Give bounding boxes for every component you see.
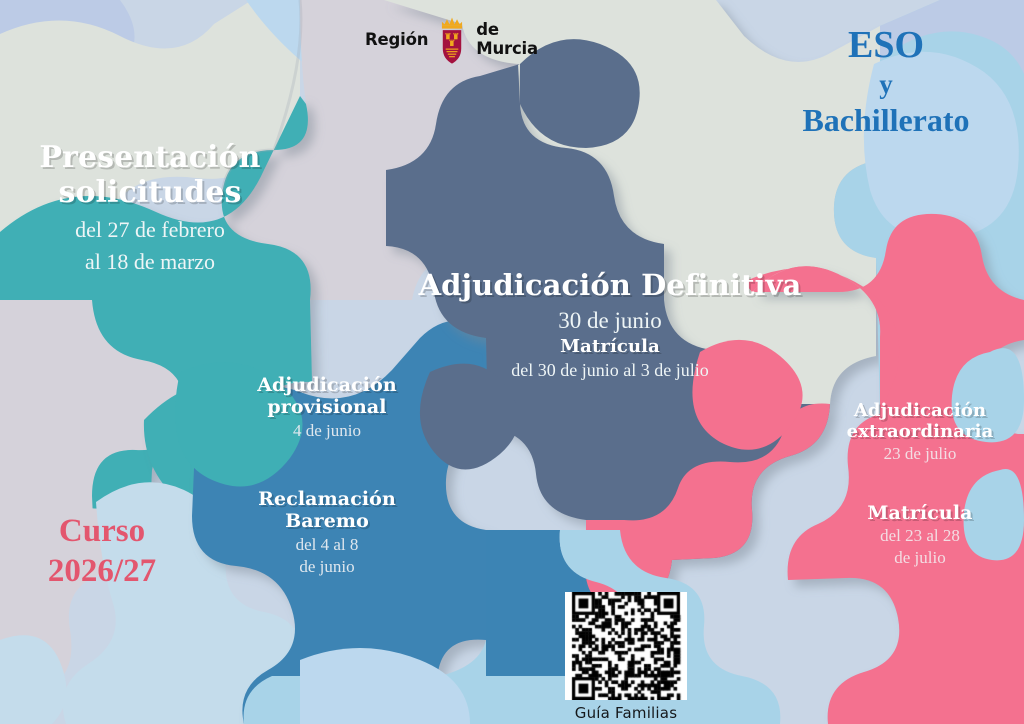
block-adjudicacion-extraordinaria: Adjudicación extraordinaria 23 de julio — [824, 400, 1016, 465]
provisional-title-line2: provisional — [234, 396, 420, 418]
block-adjudicacion-provisional: Adjudicación provisional 4 de junio — [234, 374, 420, 441]
provisional-date: 4 de junio — [234, 421, 420, 441]
block-reclamacion-baremo: Reclamación Baremo del 4 al 8 de junio — [234, 488, 420, 577]
extraordinaria-title-line2: extraordinaria — [824, 421, 1016, 442]
matricula-julio-title: Matrícula — [824, 502, 1016, 524]
presentacion-title-line2: solicitudes — [16, 175, 284, 210]
level-heading-line3: Bachillerato — [756, 101, 1016, 140]
baremo-title-line2: Baremo — [234, 510, 420, 532]
definitiva-title: Adjudicación Definitiva — [400, 268, 820, 302]
qr-caption: Guía Familias — [562, 704, 690, 722]
baremo-title-line1: Reclamación — [234, 488, 420, 510]
poster-root: Región — [0, 0, 1024, 724]
level-heading: ESO y Bachillerato — [756, 22, 1016, 140]
baremo-date-line1: del 4 al 8 — [234, 535, 420, 555]
block-matricula-julio: Matrícula del 23 al 28 de julio — [824, 502, 1016, 569]
extraordinaria-title-line1: Adjudicación — [824, 400, 1016, 421]
baremo-date-line2: de junio — [234, 557, 420, 577]
qr-code[interactable] — [565, 592, 687, 700]
logo-word-region: Región — [365, 30, 428, 49]
coat-of-arms-murcia — [435, 15, 469, 67]
qr-section: Guía Familias — [562, 592, 690, 722]
course-year-line2: 2026/27 — [12, 552, 192, 592]
level-heading-line2: y — [756, 68, 1016, 101]
course-year: Curso 2026/27 — [12, 512, 192, 591]
matricula-julio-date-line1: del 23 al 28 — [824, 526, 1016, 546]
provisional-title-line1: Adjudicación — [234, 374, 420, 396]
region-de-murcia-logo: Región — [365, 8, 565, 70]
logo-word-de-murcia: de Murcia — [476, 20, 565, 58]
block-presentacion-solicitudes: Presentación solicitudes del 27 de febre… — [16, 140, 284, 275]
extraordinaria-date: 23 de julio — [824, 444, 1016, 464]
presentacion-title-line1: Presentación — [16, 140, 284, 175]
presentacion-date-line1: del 27 de febrero — [16, 217, 284, 243]
course-year-line1: Curso — [12, 512, 192, 552]
definitiva-date: 30 de junio — [400, 307, 820, 334]
definitiva-subtitle: Matrícula — [400, 336, 820, 357]
block-adjudicacion-definitiva: Adjudicación Definitiva 30 de junio Matr… — [400, 268, 820, 381]
definitiva-subdate: del 30 de junio al 3 de julio — [400, 360, 820, 381]
level-heading-line1: ESO — [756, 22, 1016, 68]
matricula-julio-date-line2: de julio — [824, 548, 1016, 568]
presentacion-date-line2: al 18 de marzo — [16, 249, 284, 275]
